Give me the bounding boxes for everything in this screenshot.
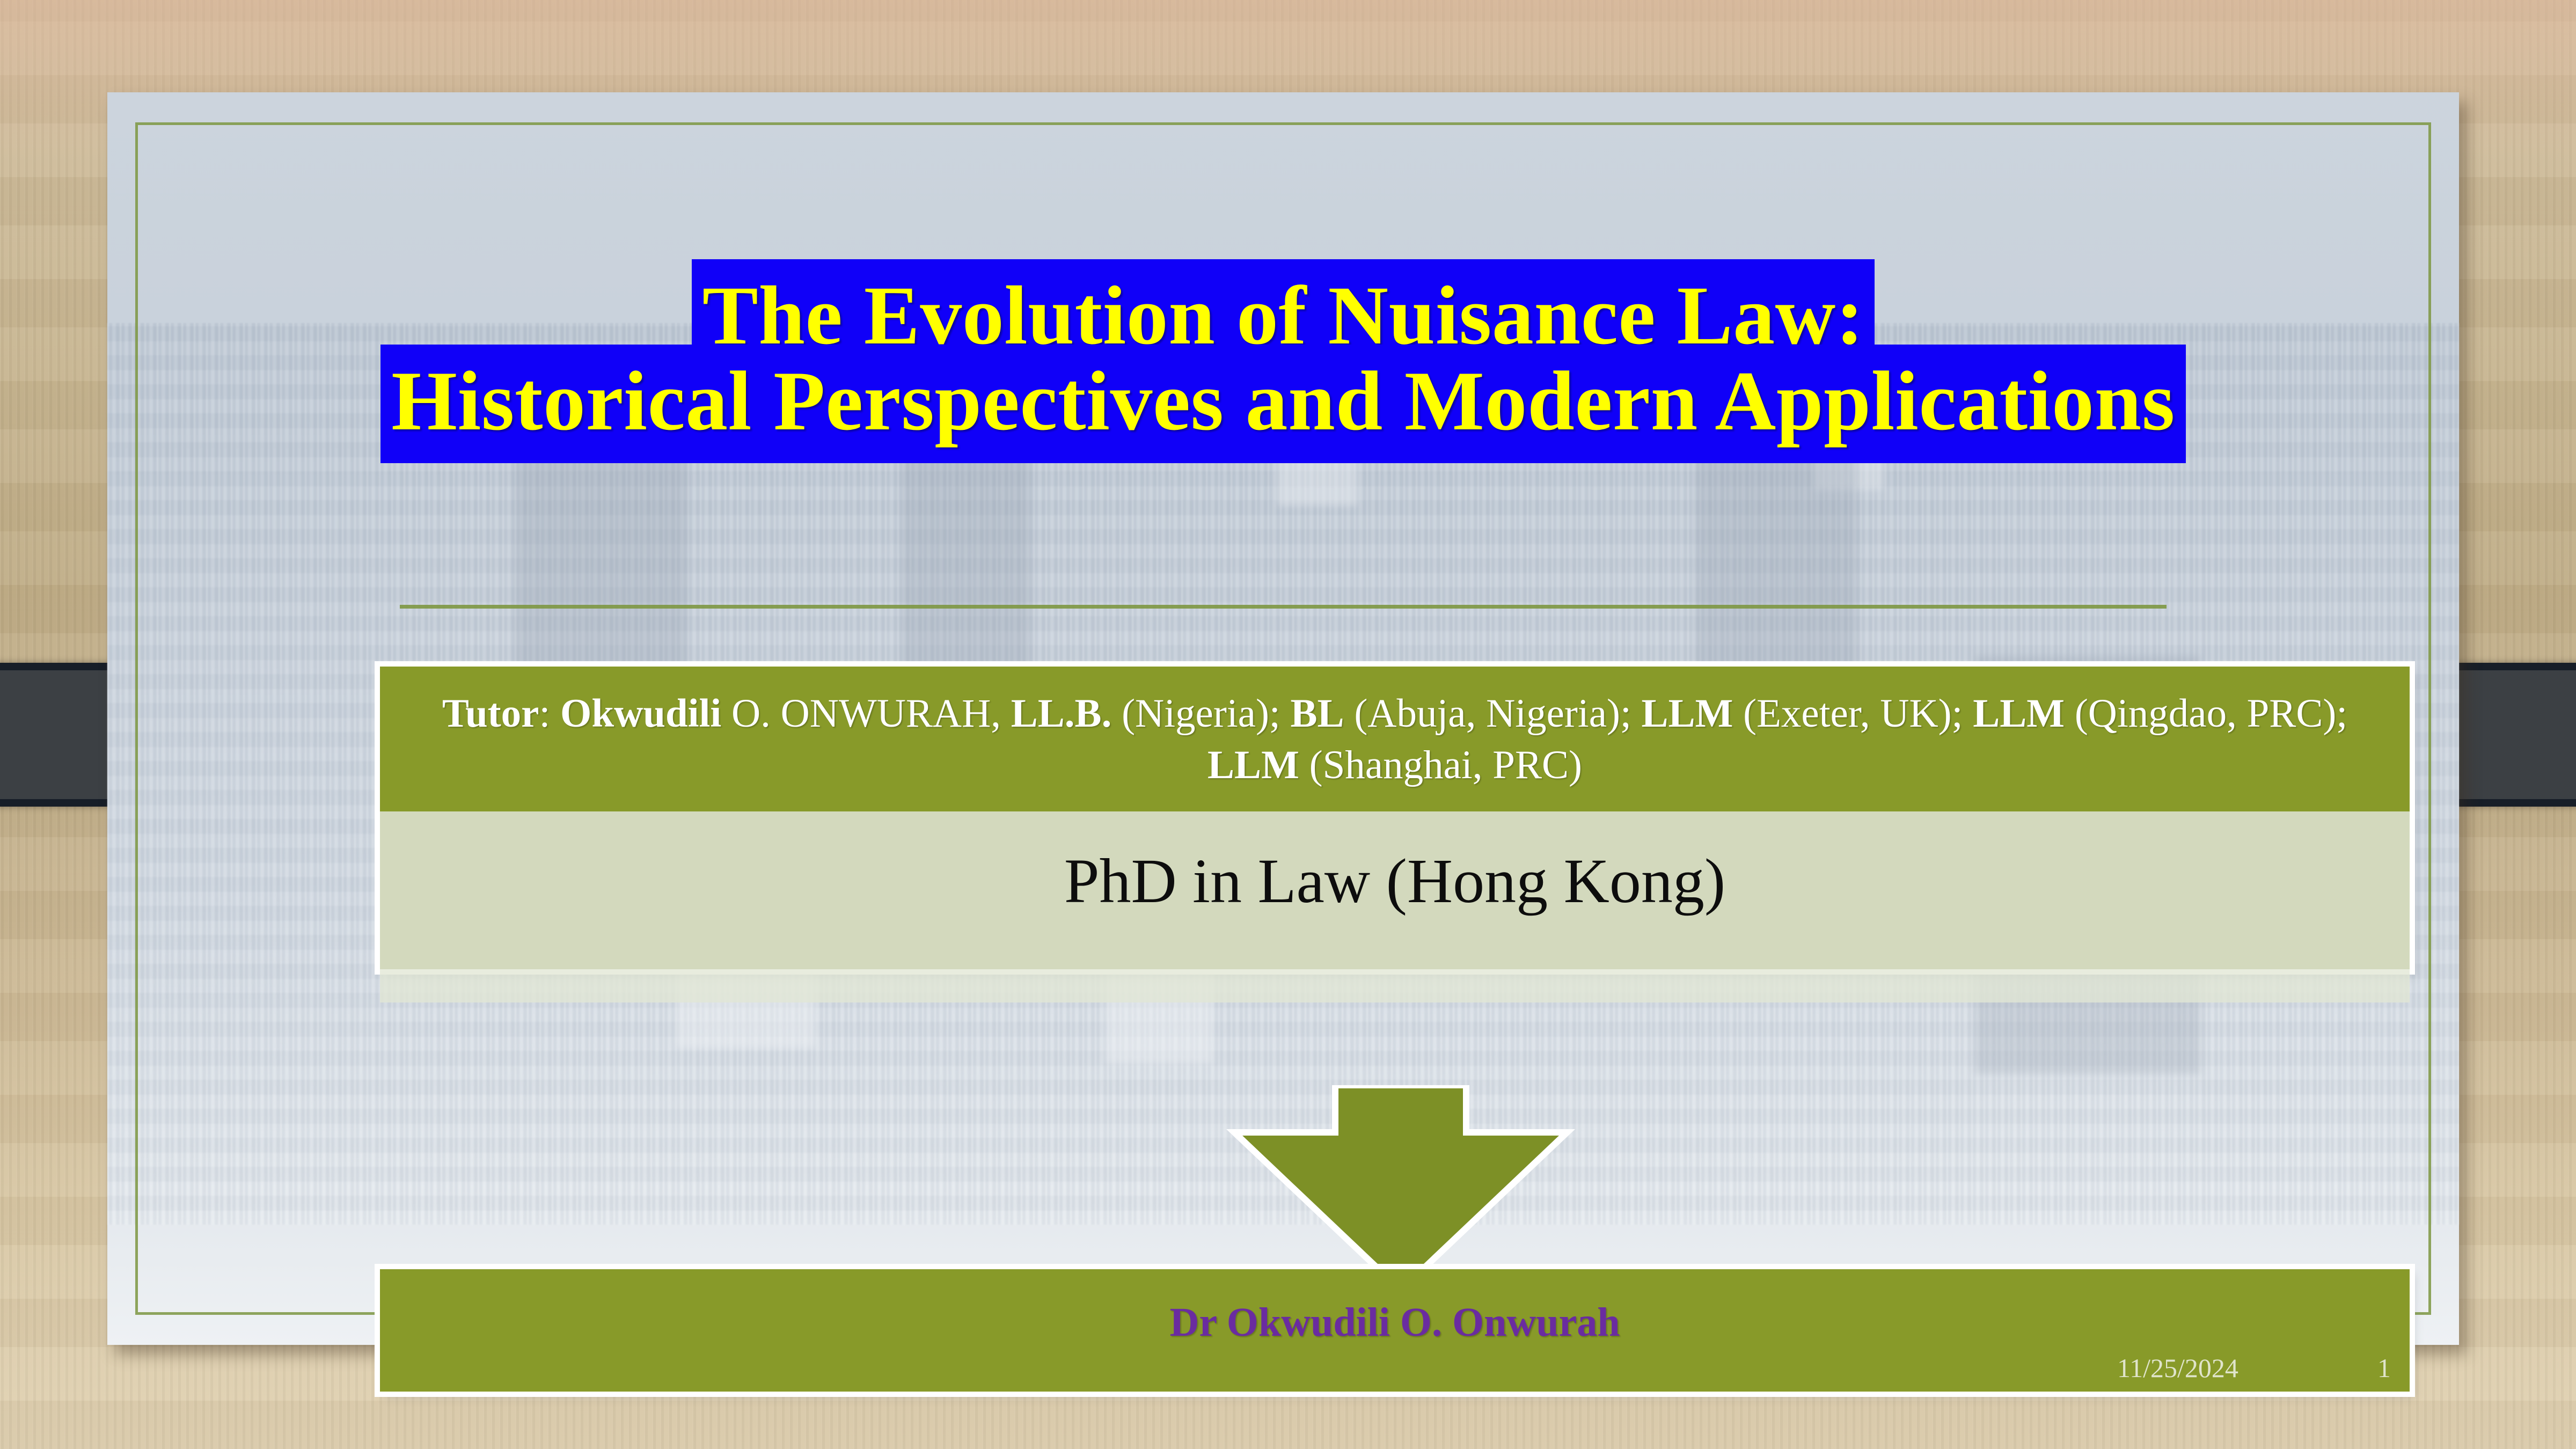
tutor-name-rest: O. ONWURAH,	[721, 691, 1011, 736]
degree-llm-shanghai: LLM	[1207, 743, 1299, 787]
presenter-name: Dr Okwudili O. Onwurah	[380, 1299, 2410, 1346]
slide-canvas[interactable]: The Evolution of Nuisance Law: Historica…	[107, 92, 2459, 1345]
degree-llb-detail: (Nigeria);	[1111, 691, 1290, 736]
doctorate-band-footer-strip	[380, 969, 2410, 1002]
title-divider-rule	[400, 605, 2167, 609]
degree-llm-qingdao: LLM	[1973, 691, 2065, 736]
presentation-viewer: The Evolution of Nuisance Law: Historica…	[0, 0, 2576, 1449]
degree-llm-exeter-detail: (Exeter, UK);	[1733, 691, 1973, 736]
slide-number: 1	[2377, 1352, 2391, 1384]
tutor-first-name: Okwudili	[560, 691, 721, 736]
title-line-2: Historical Perspectives and Modern Appli…	[107, 358, 2459, 444]
tutor-credentials-band: Tutor: Okwudili O. ONWURAH, LL.B. (Niger…	[380, 667, 2410, 811]
slide-date: 11/25/2024	[2117, 1352, 2238, 1384]
degree-bl: BL	[1291, 691, 1344, 736]
title-line-2-text: Historical Perspectives and Modern Appli…	[380, 345, 2186, 463]
degree-llm-qingdao-detail: (Qingdao, PRC);	[2065, 691, 2347, 736]
doctorate-text: PhD in Law (Hong Kong)	[1064, 846, 1725, 916]
degree-bl-detail: (Abuja, Nigeria);	[1344, 691, 1642, 736]
credentials-card[interactable]: Tutor: Okwudili O. ONWURAH, LL.B. (Niger…	[380, 667, 2410, 969]
tutor-label: Tutor	[442, 691, 539, 736]
degree-llm-shanghai-detail: (Shanghai, PRC)	[1299, 743, 1582, 787]
down-arrow-icon	[1213, 1085, 1589, 1300]
presenter-banner[interactable]: Dr Okwudili O. Onwurah	[380, 1269, 2410, 1392]
page-title: The Evolution of Nuisance Law: Historica…	[107, 273, 2459, 444]
degree-llb: LL.B.	[1011, 691, 1112, 736]
title-line-1-text: The Evolution of Nuisance Law:	[692, 259, 1875, 377]
degree-llm-exeter: LLM	[1642, 691, 1733, 736]
title-line-1: The Evolution of Nuisance Law:	[107, 273, 2459, 358]
doctorate-band: PhD in Law (Hong Kong)	[380, 811, 2410, 969]
tutor-colon: :	[539, 691, 560, 736]
